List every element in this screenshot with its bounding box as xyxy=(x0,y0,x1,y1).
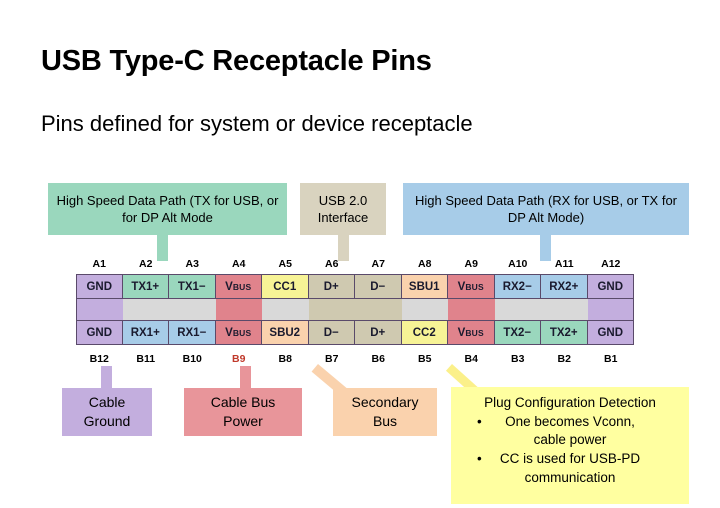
callout-label-cable-bus-power: Cable Bus Power xyxy=(190,393,296,431)
pin-cell-b9: VBUS xyxy=(216,320,263,345)
pin-cell-a1: GND xyxy=(76,274,123,299)
plug-detection-heading: Plug Configuration Detection xyxy=(457,394,683,413)
category-label-usb2: USB 2.0 Interface xyxy=(306,192,380,226)
pin-number-a10: A10 xyxy=(495,258,542,270)
separator-seg-12 xyxy=(588,299,635,320)
callout-label-cable-ground: Cable Ground xyxy=(68,393,146,431)
pin-cell-a11: RX2+ xyxy=(541,274,588,299)
pin-cell-a4: VBUS xyxy=(216,274,263,299)
pin-number-b6: B6 xyxy=(355,353,402,365)
pin-cell-b3: TX2− xyxy=(495,320,542,345)
pin-row-separator xyxy=(76,299,634,320)
plug-detection-bullet-1-line-1: One becomes Vconn, xyxy=(457,413,683,432)
pin-number-b5: B5 xyxy=(402,353,449,365)
pin-number-a4: A4 xyxy=(216,258,263,270)
callout-secondary-bus: Secondary Bus xyxy=(333,388,437,436)
page-title: USB Type-C Receptacle Pins xyxy=(41,45,432,78)
category-label-high-speed-tx: High Speed Data Path (TX for USB, or for… xyxy=(54,192,281,226)
separator-seg-10 xyxy=(495,299,542,320)
pin-cell-b6: D+ xyxy=(355,320,402,345)
separator-seg-5 xyxy=(262,299,309,320)
plug-detection-bullet-2-line-1: CC is used for USB-PD xyxy=(457,450,683,469)
pin-cell-b7: D− xyxy=(309,320,356,345)
pin-number-a1: A1 xyxy=(76,258,123,270)
separator-seg-8 xyxy=(402,299,449,320)
pin-number-a3: A3 xyxy=(169,258,216,270)
pin-cell-b1: GND xyxy=(588,320,635,345)
pin-cell-a2: TX1+ xyxy=(123,274,170,299)
category-box-high-speed-rx: High Speed Data Path (RX for USB, or TX … xyxy=(403,183,689,235)
pin-cell-a12: GND xyxy=(588,274,635,299)
category-box-high-speed-tx: High Speed Data Path (TX for USB, or for… xyxy=(48,183,287,235)
plug-detection-bullet-1: • One becomes Vconn, cable power xyxy=(457,413,683,450)
pin-numbers-row-b: B12 B11 B10 B9 B8 B7 B6 B5 B4 B3 B2 B1 xyxy=(76,353,634,365)
category-label-high-speed-rx: High Speed Data Path (RX for USB, or TX … xyxy=(409,192,683,226)
separator-seg-3 xyxy=(169,299,216,320)
bullet-glyph-icon: • xyxy=(477,450,482,469)
plug-detection-bullet-2: • CC is used for USB-PD communication xyxy=(457,450,683,487)
pin-cell-b5: CC2 xyxy=(402,320,449,345)
pin-number-b9: B9 xyxy=(216,353,263,365)
pin-number-a2: A2 xyxy=(123,258,170,270)
pin-cell-a9: VBUS xyxy=(448,274,495,299)
separator-seg-7 xyxy=(355,299,402,320)
pin-number-a5: A5 xyxy=(262,258,309,270)
pin-cell-b11: RX1+ xyxy=(123,320,170,345)
pin-number-a11: A11 xyxy=(541,258,588,270)
pin-row-b: GND RX1+ RX1− VBUS SBU2 D− D+ CC2 VBUS T… xyxy=(76,320,634,345)
pin-cell-b8: SBU2 xyxy=(262,320,309,345)
category-box-usb2: USB 2.0 Interface xyxy=(300,183,386,235)
pin-cell-b4: VBUS xyxy=(448,320,495,345)
pin-cell-a7: D− xyxy=(355,274,402,299)
slide-canvas: USB Type-C Receptacle Pins Pins defined … xyxy=(0,0,720,508)
separator-seg-1 xyxy=(76,299,123,320)
pin-number-a9: A9 xyxy=(448,258,495,270)
pin-cell-a6: D+ xyxy=(309,274,356,299)
pin-number-a7: A7 xyxy=(355,258,402,270)
pin-number-a12: A12 xyxy=(588,258,635,270)
pin-number-b2: B2 xyxy=(541,353,588,365)
pin-number-b4: B4 xyxy=(448,353,495,365)
pin-row-a: GND TX1+ TX1− VBUS CC1 D+ D− SBU1 VBUS R… xyxy=(76,274,634,299)
page-subtitle: Pins defined for system or device recept… xyxy=(41,111,473,137)
pin-number-a6: A6 xyxy=(309,258,356,270)
pin-cell-b2: TX2+ xyxy=(541,320,588,345)
connector-stem-cable-bus-power xyxy=(240,366,251,390)
pin-number-b12: B12 xyxy=(76,353,123,365)
plug-detection-bullet-1-line-2: cable power xyxy=(457,431,683,450)
pin-numbers-row-a: A1 A2 A3 A4 A5 A6 A7 A8 A9 A10 A11 A12 xyxy=(76,258,634,270)
pin-number-b3: B3 xyxy=(495,353,542,365)
pin-cell-b12: GND xyxy=(76,320,123,345)
pin-number-b11: B11 xyxy=(123,353,170,365)
callout-cable-ground: Cable Ground xyxy=(62,388,152,436)
pin-number-b1: B1 xyxy=(588,353,635,365)
plug-detection-bullet-2-line-2: communication xyxy=(457,469,683,488)
separator-seg-2 xyxy=(123,299,170,320)
callout-plug-configuration-detection: Plug Configuration Detection • One becom… xyxy=(451,387,689,504)
pin-cell-b10: RX1− xyxy=(169,320,216,345)
pin-number-b10: B10 xyxy=(169,353,216,365)
plug-detection-bullet-list: • One becomes Vconn, cable power • CC is… xyxy=(457,413,683,488)
callout-cable-bus-power: Cable Bus Power xyxy=(184,388,302,436)
bullet-glyph-icon: • xyxy=(477,413,482,432)
pin-cell-a3: TX1− xyxy=(169,274,216,299)
pin-cell-a8: SBU1 xyxy=(402,274,449,299)
separator-seg-6 xyxy=(309,299,356,320)
separator-seg-11 xyxy=(541,299,588,320)
pin-number-b7: B7 xyxy=(309,353,356,365)
callout-label-secondary-bus: Secondary Bus xyxy=(339,393,431,431)
pin-table: GND TX1+ TX1− VBUS CC1 D+ D− SBU1 VBUS R… xyxy=(76,274,634,352)
separator-seg-4 xyxy=(216,299,263,320)
connector-stem-cable-ground xyxy=(101,366,112,390)
pin-number-b8: B8 xyxy=(262,353,309,365)
pin-number-a8: A8 xyxy=(402,258,449,270)
separator-seg-9 xyxy=(448,299,495,320)
pin-cell-a5: CC1 xyxy=(262,274,309,299)
pin-cell-a10: RX2− xyxy=(495,274,542,299)
